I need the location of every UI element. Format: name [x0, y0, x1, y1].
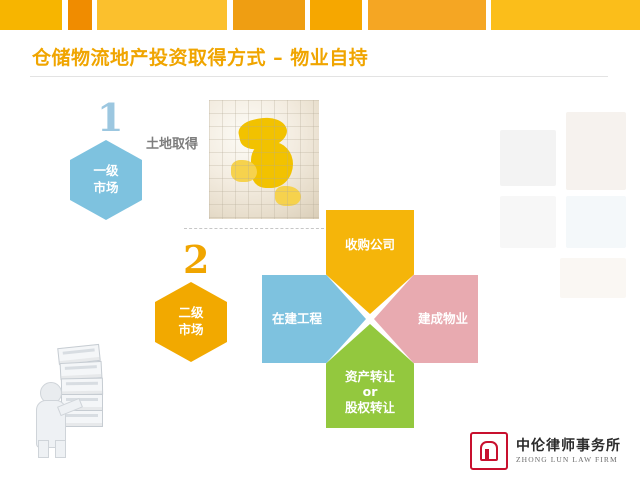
arrow-bottom-label-line3: 股权转让 [345, 400, 395, 416]
land-acquisition-label: 土地取得 [146, 133, 198, 152]
segment-yellow-3 [310, 0, 362, 30]
segment-yellow-2 [97, 0, 227, 30]
arrow-right-label: 建成物业 [418, 311, 468, 327]
hexagon-secondary-market: 二级 市场 [155, 282, 227, 362]
arrow-bottom-label-line1: 资产转让 [345, 369, 395, 385]
hex-label-line1: 一级 [93, 163, 118, 180]
step-one-number: 1 [97, 95, 123, 140]
arrow-top-label: 收购公司 [345, 237, 395, 253]
bg-square-3 [500, 196, 556, 248]
hex-label-line2: 市场 [178, 322, 203, 339]
bg-square-5 [560, 258, 626, 298]
logo-name-cn: 中伦律师事务所 [516, 438, 621, 454]
logo-name-en: ZHONG LUN LAW FIRM [516, 455, 621, 464]
segment-orange-3 [368, 0, 486, 30]
bg-square-4 [566, 196, 626, 248]
hexagon-primary-market: 一级 市场 [70, 140, 142, 220]
person-leg-left [38, 440, 49, 458]
segment-orange-2 [233, 0, 305, 30]
pinwheel-diagram: 收购公司 在建工程 建成物业 资产转让 or 股权转让 [262, 210, 478, 428]
logo-mark-icon [470, 432, 508, 470]
slide: 仓储物流地产投资取得方式 – 物业自持 1 一级 市场 土地取得 2 二级 市场… [0, 0, 640, 480]
top-color-bar [0, 0, 640, 30]
segment-yellow-4 [491, 0, 640, 30]
title-divider [30, 76, 608, 77]
globe-image [209, 100, 319, 219]
person-leg-right [55, 440, 66, 458]
bg-square-1 [500, 130, 556, 186]
step-two-number: 2 [183, 237, 209, 282]
globe-grid-lines [209, 100, 319, 219]
bg-square-2 [566, 112, 626, 190]
arrow-bottom-label-line2: or [345, 384, 395, 400]
person-with-boxes-illustration [14, 340, 104, 452]
arrow-left-label: 在建工程 [272, 311, 322, 327]
page-title: 仓储物流地产投资取得方式 – 物业自持 [32, 43, 368, 70]
box-icon [61, 378, 103, 396]
hex-label-line1: 二级 [178, 305, 203, 322]
firm-logo: 中伦律师事务所 ZHONG LUN LAW FIRM [470, 432, 621, 470]
segment-orange-1 [68, 0, 92, 30]
segment-yellow-1 [0, 0, 62, 30]
hex-label-line2: 市场 [93, 180, 118, 197]
